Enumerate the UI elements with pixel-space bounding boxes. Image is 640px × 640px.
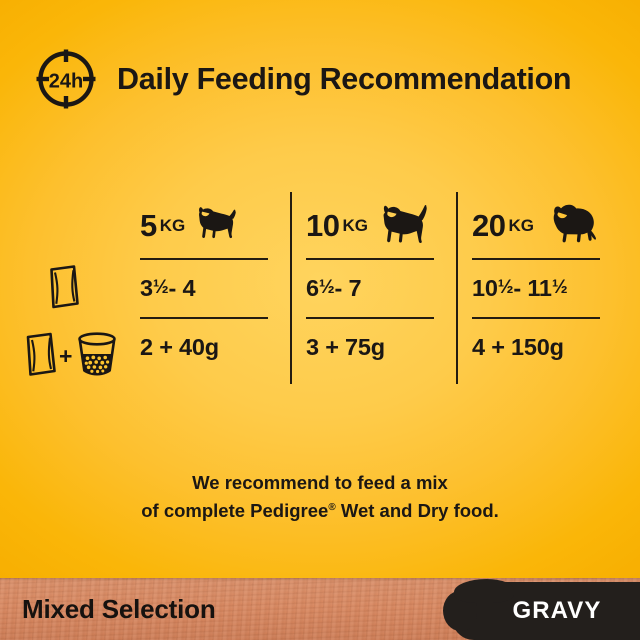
plus-icon: + <box>59 345 72 368</box>
dry-food-cup-icon <box>73 330 121 383</box>
amount-whole: 6 <box>306 277 319 301</box>
footnote-brand-prefix: of complete Pedigree <box>141 500 328 521</box>
header: 24h Daily Feeding Recommendation <box>34 46 614 112</box>
bottom-band: Mixed Selection GRAVY <box>0 578 640 640</box>
weight-cell: 20 KG <box>472 192 622 258</box>
feeding-table: 5 KG 3½ - 4 2 + 40g 10 KG <box>126 192 622 384</box>
small-dog-icon <box>193 206 239 245</box>
amount-fraction: ½ <box>498 278 514 297</box>
amount-whole: 3 <box>140 277 153 301</box>
amount-range: - 7 <box>335 277 362 301</box>
large-dog-icon <box>542 202 602 249</box>
amount-fraction: ½ <box>319 278 335 297</box>
medium-dog-icon <box>376 203 432 248</box>
weight-unit: KG <box>508 217 534 234</box>
weight-value: 20 <box>472 210 505 241</box>
page-title: Daily Feeding Recommendation <box>117 64 571 95</box>
amount-fraction: ½ <box>153 278 169 297</box>
registered-trademark-symbol: ® <box>328 502 335 513</box>
weight-cell: 10 KG <box>306 192 456 258</box>
mixed-amount: 3 + 75g <box>306 319 456 376</box>
wet-food-pouch-icon <box>22 331 58 382</box>
wet-only-amount: 3½ - 4 <box>140 260 290 317</box>
variant-name: Mixed Selection <box>22 596 216 622</box>
footnote-line-2: of complete Pedigree® Wet and Dry food. <box>0 495 640 523</box>
weight-value: 10 <box>306 210 339 241</box>
footnote-line-1: We recommend to feed a mix <box>0 470 640 495</box>
band-top-edge <box>0 578 640 581</box>
amount-range: - 4 <box>169 277 196 301</box>
weight-value: 5 <box>140 210 157 241</box>
feeding-recommendation-panel: 24h Daily Feeding Recommendation + <box>0 0 640 640</box>
feeding-column-20kg: 20 KG 10½ - 11½ 4 + 150g <box>456 192 622 384</box>
weight-cell: 5 KG <box>140 192 290 258</box>
legend-row-mixed: + <box>22 330 121 382</box>
mixed-amount: 4 + 150g <box>472 319 622 376</box>
footnote-brand-suffix: Wet and Dry food. <box>336 500 499 521</box>
wet-only-amount: 10½ - 11½ <box>472 260 622 317</box>
wet-food-pouch-icon <box>44 264 80 315</box>
amount-whole: 10 <box>472 277 498 301</box>
feeding-column-5kg: 5 KG 3½ - 4 2 + 40g <box>126 192 290 384</box>
svg-text:24h: 24h <box>49 71 83 93</box>
amount-fraction-2: ½ <box>552 278 568 297</box>
weight-unit: KG <box>342 217 368 234</box>
gravy-badge-label: GRAVY <box>512 599 601 623</box>
legend-row-wet <box>44 263 80 315</box>
amount-range: - 11 <box>513 277 551 301</box>
footnote: We recommend to feed a mix of complete P… <box>0 470 640 523</box>
feeding-column-10kg: 10 KG 6½ - 7 3 + 75g <box>290 192 456 384</box>
mixed-amount: 2 + 40g <box>140 319 290 376</box>
24h-clock-icon: 24h <box>34 47 98 111</box>
weight-unit: KG <box>160 217 186 234</box>
gravy-badge: GRAVY <box>452 582 640 640</box>
wet-only-amount: 6½ - 7 <box>306 260 456 317</box>
